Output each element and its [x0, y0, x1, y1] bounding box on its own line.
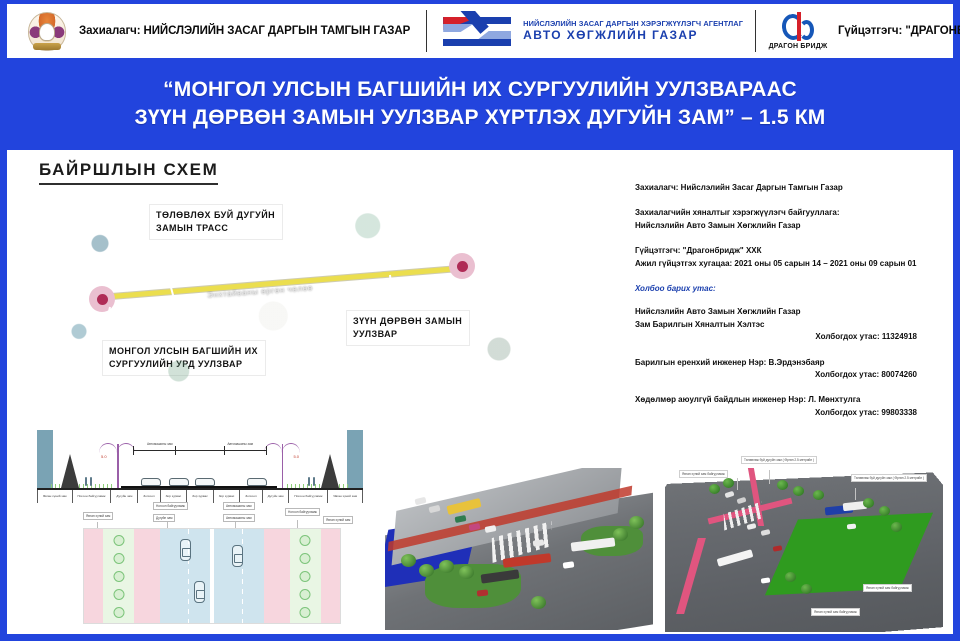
plan-band-green-left	[103, 529, 133, 623]
header-divider-1	[426, 10, 427, 52]
agency-block: НИЙСЛЭЛИЙН ЗАСАГ ДАРГЫН ХЭРЭГЖҮҮЛЭГЧ АГЕ…	[431, 4, 751, 58]
dragon-bridge-logo-icon: ДРАГОН БРИДЖ	[770, 8, 826, 54]
render-note-3: Явган хүний зам байгууламж	[863, 584, 912, 592]
building-right	[347, 430, 363, 488]
auto-development-agency-logo-icon	[441, 11, 515, 51]
project-info-column: Захиалагч: Нийслэлийн Засаг Даргын Тамгы…	[635, 182, 935, 432]
project-title-line-1: “МОНГОЛ УЛСЫН БАГШИЙН ИХ СУРГУУЛИЙН УУЛЗ…	[163, 76, 797, 104]
info-contractor-block: Гүйцэтгэгч: "Драгонбридж" ХХК Ажил гүйцэ…	[635, 245, 935, 270]
render-note-2: Явган хүний зам байгууламж	[679, 470, 728, 478]
info-contact-1: Нийслэлийн Авто Замын Хөгжлийн Газар Зам…	[635, 306, 935, 343]
plan-band-sidewalk-left	[84, 529, 103, 623]
dimension-right: 5.0	[293, 454, 299, 459]
tick-label: Ногоон байгууламж	[288, 490, 327, 503]
map-label-west-junction-line-2: СУРГУУЛИЙН УРД УУЛЗВАР	[109, 358, 258, 371]
info-client-block: Захиалагч: Нийслэлийн Засаг Даргын Тамгы…	[635, 182, 935, 194]
plan-note-7: Явган хүний зам	[323, 516, 353, 524]
planned-bike-route-line	[99, 266, 460, 300]
map-leader-line-east	[389, 275, 395, 315]
contact2-name: Барилгын еренхий инженер Нэр: В.Эрдэнэба…	[635, 357, 935, 369]
render-note-4: Явган хүний зам байгууламж	[811, 608, 860, 616]
cross-section-tick-labels: Явган хүний зам Ногоон байгууламж Дугуйн…	[37, 490, 363, 503]
map-label-planned-route-line-2: ЗАМЫН ТРАСС	[156, 222, 275, 235]
plan-band-sidewalk-right	[321, 529, 340, 623]
dragon-bridge-wordmark: ДРАГОН БРИДЖ	[769, 43, 828, 50]
project-signboard: Захиалагч: НИЙСЛЭЛИЙН ЗАСАГ ДАРГЫН ТАМГЫ…	[0, 0, 960, 641]
plan-band-road-right	[214, 529, 264, 623]
street-lamp-icon	[282, 444, 284, 488]
tick-label: Зор зурвас	[186, 490, 213, 503]
header-divider-2	[755, 10, 756, 52]
map-label-west-junction: МОНГОЛ УЛСЫН БАГШИЙН ИХ СУРГУУЛИЙН УРД У…	[103, 341, 265, 375]
map-label-east-junction: ЗҮҮН ДӨРВӨН ЗАМЫН УУЛЗВАР	[347, 311, 469, 345]
intersection-render-photo	[385, 468, 653, 630]
location-satellite-map: Энхтайваны өргөн чөлөө ТӨЛӨВЛӨХ БУЙ ДУГУ…	[37, 195, 562, 415]
contractor-label: Гүйцэтгэгч: "ДРАГОНБРИДЖ" ХХК	[826, 25, 960, 37]
elevation-note-right: Автомашины зам	[227, 442, 253, 446]
junction-aerial-render: Төлөвлөж буй дугуйн зам ( Өргөн 2.5 метр…	[665, 450, 943, 632]
building-left	[37, 430, 53, 488]
plan-note-2: Дугуйн зам	[153, 514, 175, 522]
tick-label: Дугуйн зам	[262, 490, 289, 503]
map-label-planned-route: ТӨЛӨВЛӨХ БУЙ ДУГУЙН ЗАМЫН ТРАСС	[150, 205, 282, 239]
plan-note-1: Ногоон байгууламж	[153, 502, 188, 510]
map-label-east-junction-line-1: ЗҮҮН ДӨРВӨН ЗАМЫН	[353, 315, 462, 328]
info-period: Ажил гүйцэтгэх хугацаа: 2021 оны 05 сары…	[635, 258, 935, 270]
info-supervisor-name: Нийслэлийн Авто Замын Хөгжлийн Газар	[635, 220, 935, 232]
plan-band-bike-left	[134, 529, 161, 623]
render-note-1: Төлөвлөж буй дугуйн зам ( Өргөн 2.5 метр…	[851, 474, 927, 482]
plan-band-road-left	[160, 529, 210, 623]
tick-label: Явган хүний зам	[327, 490, 363, 503]
contractor-block: ДРАГОН БРИДЖ Гүйцэтгэгч: "ДРАГОНБРИДЖ" Х…	[760, 4, 960, 58]
info-supervisor-block: Захиалагчийн хяналтыг хэрэгжүүлэгч байгу…	[635, 207, 935, 232]
map-pin-west	[89, 286, 115, 312]
contact3-name: Хөдөлмөр аюулгүй байдлын инженер Нэр: Л.…	[635, 394, 935, 406]
plan-band-bike-right	[264, 529, 291, 623]
client-label: Захиалагч: НИЙСЛЭЛИЙН ЗАСАГ ДАРГЫН ТАМГЫ…	[67, 25, 422, 37]
elevation-note-left: Автомашины зам	[147, 442, 173, 446]
tree-icon	[61, 454, 79, 488]
street-lamp-icon	[117, 444, 119, 488]
tree-icon	[321, 454, 339, 488]
cross-section-elevation: 5.0 5.0 Автомашины зам Автомашины зам Яв…	[35, 428, 365, 504]
info-client: Захиалагч: Нийслэлийн Засаг Даргын Тамгы…	[635, 182, 935, 194]
contact1-phone: Холбогдох утас: 11324918	[635, 331, 935, 343]
road-cross-section-drawing: 5.0 5.0 Автомашины зам Автомашины зам Яв…	[35, 428, 365, 626]
contact1-dept: Зам Барилгын Хяналтын Хэлтэс	[635, 319, 935, 331]
info-contacts-heading: Холбоо барих утас:	[635, 283, 935, 295]
contact3-phone: Холбогдох утас: 99803338	[635, 407, 935, 419]
section-heading-location: БАЙРШЛЫН СХЕМ	[39, 160, 218, 185]
project-title: “МОНГОЛ УЛСЫН БАГШИЙН ИХ СУРГУУЛИЙН УУЛЗ…	[7, 62, 953, 146]
tick-label: Дугуйн зам	[110, 490, 137, 503]
road-plan-view	[83, 528, 341, 624]
tick-label: Явган хүний зам	[37, 490, 72, 503]
client-block: Захиалагч: НИЙСЛЭЛИЙН ЗАСАГ ДАРГЫН ТАМГЫ…	[13, 4, 422, 58]
project-title-line-2: ЗҮҮН ДӨРВӨН ЗАМЫН УУЛЗВАР ХҮРТЛЭХ ДУГУЙН…	[135, 104, 826, 132]
map-label-west-junction-line-1: МОНГОЛ УЛСЫН БАГШИЙН ИХ	[109, 345, 258, 358]
agency-subtitle: НИЙСЛЭЛИЙН ЗАСАГ ДАРГЫН ХЭРЭГЖҮҮЛЭГЧ АГЕ…	[523, 20, 743, 29]
map-label-planned-route-line-1: ТӨЛӨВЛӨХ БУЙ ДУГУЙН	[156, 209, 275, 222]
map-pin-east	[449, 253, 475, 279]
plan-note-6: Ногоон байгууламж	[285, 508, 320, 516]
tick-label: Ногоон байгууламж	[72, 490, 111, 503]
plan-note-0: Явган хүний зам	[83, 512, 113, 520]
info-supervisor-title: Захиалагчийн хяналтыг хэрэгжүүлэгч байгу…	[635, 207, 935, 219]
contact2-phone: Холбогдох утас: 80074260	[635, 369, 935, 381]
content-panel: БАЙРШЛЫН СХЕМ Энхтайваны өргөн чөлөө ТӨЛ…	[7, 150, 953, 634]
agency-title: АВТО ХӨГЖЛИЙН ГАЗАР	[523, 28, 743, 42]
map-label-east-junction-line-2: УУЛЗВАР	[353, 328, 462, 341]
mongolia-state-emblem-icon	[27, 10, 67, 52]
plan-band-green-right	[290, 529, 320, 623]
info-contact-2: Барилгын еренхий инженер Нэр: В.Эрдэнэба…	[635, 357, 935, 382]
dimension-left: 5.0	[101, 454, 107, 459]
info-contractor: Гүйцэтгэгч: "Драгонбридж" ХХК	[635, 245, 935, 257]
plan-note-3: Автомашины зам	[223, 502, 255, 510]
plan-note-4: Автомашины зам	[223, 514, 255, 522]
contact1-org: Нийслэлийн Авто Замын Хөгжлийн Газар	[635, 306, 935, 318]
info-contact-3: Хөдөлмөр аюулгүй байдлын инженер Нэр: Л.…	[635, 394, 935, 419]
header-strip: Захиалагч: НИЙСЛЭЛИЙН ЗАСАГ ДАРГЫН ТАМГЫ…	[7, 4, 953, 58]
render-note-0: Төлөвлөж буй дугуйн зам ( Өргөн 2.5 метр…	[741, 456, 817, 464]
